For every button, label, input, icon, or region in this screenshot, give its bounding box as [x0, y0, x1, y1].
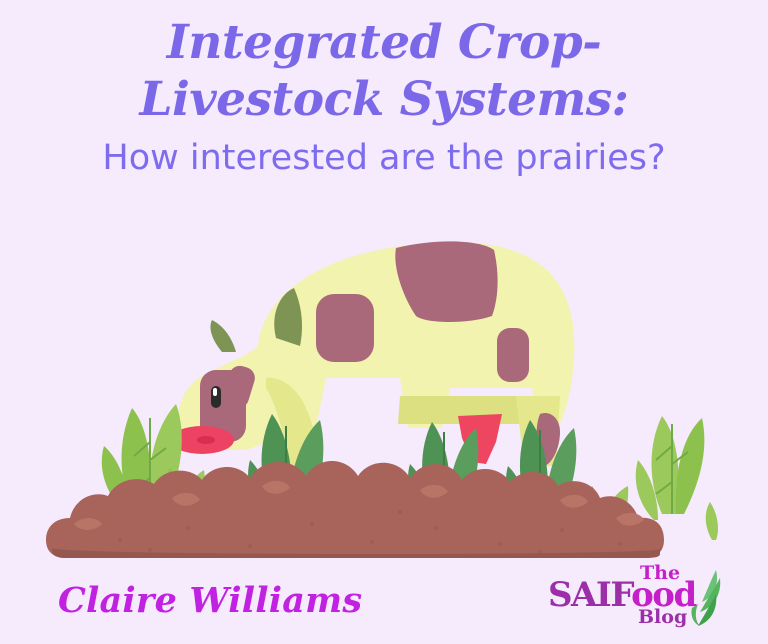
footer: Claire Williams SAIFood The Blog — [0, 560, 768, 644]
leaf-icon — [686, 568, 722, 628]
logo-blog: Blog — [638, 608, 687, 627]
saifood-blog-logo[interactable]: SAIFood The Blog — [548, 566, 724, 632]
soil-mound-row — [0, 228, 768, 558]
logo-the: The — [640, 564, 680, 583]
page-subtitle: How interested are the prairies? — [0, 134, 768, 182]
logo-saif: SAIF — [548, 575, 631, 615]
soil-body — [46, 461, 664, 558]
title-block: Integrated Crop- Livestock Systems: How … — [0, 14, 768, 182]
author-name: Claire Williams — [58, 580, 362, 622]
page-title-line-1: Integrated Crop- — [0, 14, 768, 71]
page-title-line-2: Livestock Systems: — [0, 71, 768, 128]
illustration — [0, 228, 768, 558]
